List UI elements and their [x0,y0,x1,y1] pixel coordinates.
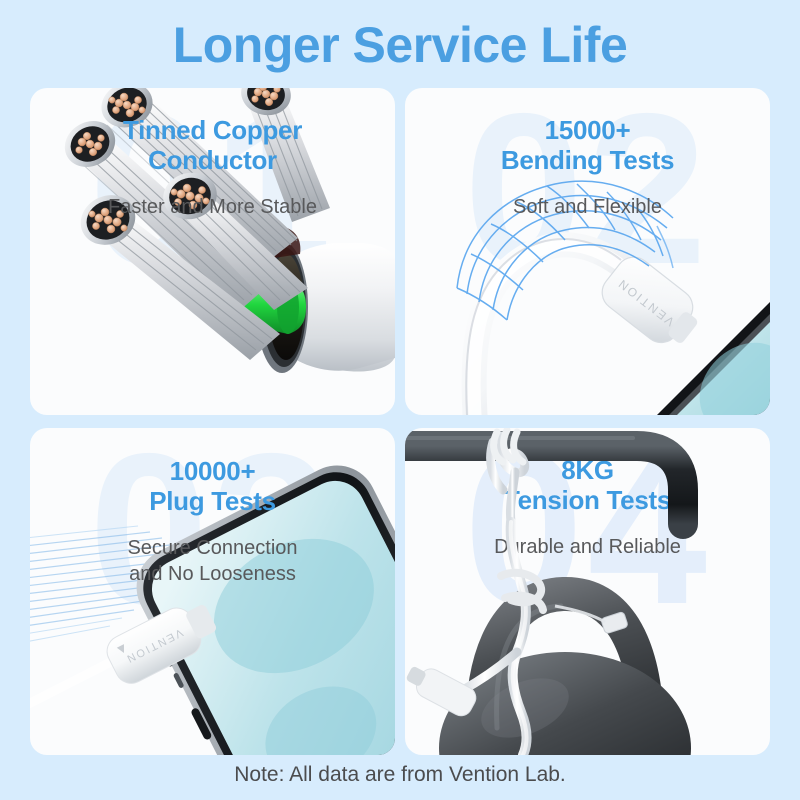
feature-card-plug-tests: 03 [30,428,395,755]
feature-card-bending-tests: 02 [405,88,770,415]
tension-bar-and-cable-illustration [405,428,770,755]
page-title: Longer Service Life [0,14,800,76]
feature-card-tinned-copper-conductor: 01 [30,88,395,415]
cable-cross-section-illustration [30,88,395,415]
cable-plug-phone-illustration: VENTION [30,428,395,755]
bending-cable-illustration: VENTION [405,88,770,415]
footer-note: Note: All data are from Vention Lab. [0,760,800,790]
feature-card-tension-tests: 04 [405,428,770,755]
infographic-page: Longer Service Life 01 [0,0,800,800]
